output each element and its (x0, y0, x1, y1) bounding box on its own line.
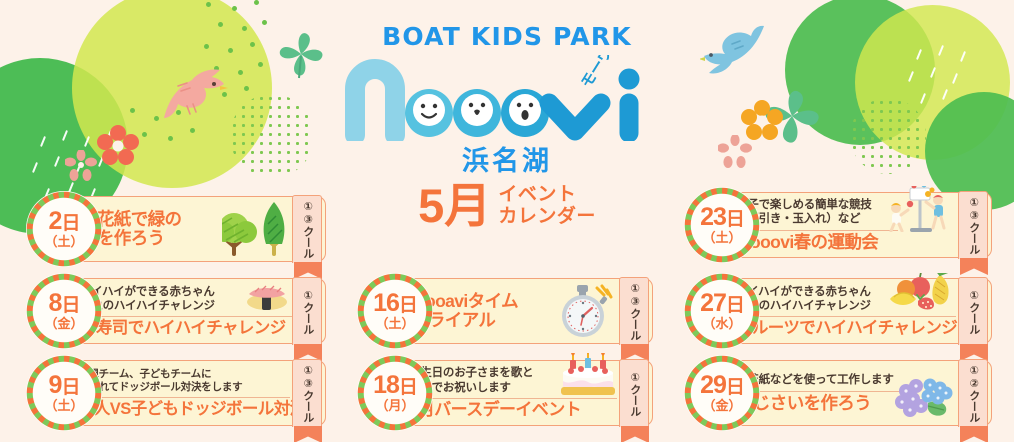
date-number: 27日 (700, 291, 744, 316)
date-number: 29日 (700, 373, 744, 398)
date-weekday: （金） (702, 399, 741, 413)
date-badge: 9日 （土） (26, 355, 102, 431)
event-card-2[interactable]: 2日 （土） お花紙で緑の 木を作ろう ①③クール (26, 196, 326, 262)
divider (736, 316, 956, 317)
course-ribbon-text: ①クール (628, 371, 640, 417)
location-title: 浜名湖 (0, 139, 1014, 178)
date-number: 9日 (49, 373, 80, 398)
event-card-16[interactable]: 16日 （土） Mooaviタイム トライアル ①③クール (357, 278, 653, 344)
event-title: あじさいを作ろう (736, 394, 902, 413)
calendar-subtitle: イベント カレンダー (498, 184, 596, 227)
event-card-27[interactable]: 27日 （水） ハイハイができる赤ちゃん 対象のハイハイチャレンジ フルーツでハ… (684, 278, 992, 344)
course-ribbon: ①③クール (292, 359, 322, 427)
course-ribbon-tail (960, 258, 988, 275)
calendar-subtitle-line2: カレンダー (498, 206, 596, 227)
course-ribbon: ①③クール (619, 277, 649, 345)
date-weekday: （土） (702, 231, 741, 245)
divider (78, 397, 290, 398)
event-title: 大人VS子どもドッジボール対決 (78, 400, 290, 418)
date-badge: 27日 （水） (684, 273, 760, 349)
course-ribbon-text: ①②クール (967, 364, 979, 423)
course-ribbon-tail (621, 426, 649, 442)
event-title: Mooaviタイム トライアル (411, 292, 613, 331)
event-description: 誕生日のお子さまを歌と 遊びでお祝いします (409, 366, 617, 395)
brand-title: BOAT KIDS PARK (0, 22, 1014, 51)
event-title: 5月バースデーイベント (409, 401, 617, 420)
date-weekday: （水） (702, 317, 741, 331)
calendar-subtitle-line1: イベント (498, 184, 596, 205)
course-ribbon: ①クール (292, 277, 322, 345)
logo-ruby-text: モーヴィ (577, 55, 624, 91)
event-card-29[interactable]: 29日 （金） お花紙などを使って工作します あじさいを作ろう (684, 360, 992, 426)
course-ribbon-text: ①クール (967, 289, 979, 335)
month-number: 5月 (418, 182, 491, 229)
course-ribbon: ①③クール (292, 195, 322, 263)
event-description: ハイハイができる赤ちゃん 対象のハイハイチャレンジ (736, 285, 956, 314)
event-description: 母親チーム、子どもチームに 分かれてドッジボール対決をします (78, 368, 290, 394)
date-badge: 8日 （金） (26, 273, 102, 349)
date-badge: 16日 （土） (357, 273, 433, 349)
event-title: Mooovi春の運動会 (736, 233, 898, 252)
course-ribbon: ①クール (958, 277, 988, 345)
course-ribbon-text: ①③クール (301, 200, 313, 259)
course-ribbon-tail (960, 426, 988, 442)
date-number: 8日 (49, 291, 80, 316)
mooovi-logo: モーヴィ (0, 55, 1014, 137)
date-badge: 29日 （金） (684, 355, 760, 431)
event-card-23[interactable]: 23日 （土） 親子で楽しめる簡単な競技 （綱引き・玉入れ）など Mooovi春… (684, 192, 992, 258)
date-weekday: （金） (44, 317, 83, 331)
date-badge: 23日 （土） (684, 187, 760, 263)
event-title: お寿司でハイハイチャレンジ (80, 319, 292, 337)
divider (409, 398, 617, 399)
course-ribbon: ①③クール (958, 191, 988, 259)
date-number: 18日 (373, 373, 417, 398)
course-ribbon-text: ①③クール (628, 282, 640, 341)
date-number: 2日 (49, 209, 80, 234)
event-card-9[interactable]: 9日 （土） 母親チーム、子どもチームに 分かれてドッジボール対決をします 大人… (26, 360, 326, 426)
date-badge: 2日 （土） (26, 191, 102, 267)
date-weekday: （土） (44, 235, 83, 249)
course-ribbon-tail (294, 426, 322, 442)
course-ribbon-text: ①③クール (301, 364, 313, 423)
event-card-8[interactable]: 8日 （金） ハイハイができる赤ちゃん 対象のハイハイチャレンジ お寿司でハイハ… (26, 278, 326, 344)
course-ribbon: ①クール (619, 359, 649, 427)
calendar-poster: BOAT KIDS PARK (0, 0, 1014, 442)
event-title: お花紙で緑の 木を作ろう (80, 210, 286, 249)
date-number: 16日 (373, 291, 417, 316)
course-ribbon: ①②クール (958, 359, 988, 427)
divider (80, 316, 292, 317)
event-card-18[interactable]: 18日 （月） 誕生日のお子さまを歌と 遊びでお祝いします 5月バースデーイベン… (357, 360, 653, 426)
course-ribbon-text: ①③クール (967, 196, 979, 255)
date-weekday: （月） (375, 399, 414, 413)
course-ribbon-text: ①クール (301, 289, 313, 335)
event-description: ハイハイができる赤ちゃん 対象のハイハイチャレンジ (80, 285, 292, 314)
date-weekday: （土） (375, 317, 414, 331)
date-number: 23日 (700, 205, 744, 230)
date-weekday: （土） (44, 399, 83, 413)
date-badge: 18日 （月） (357, 355, 433, 431)
event-title: フルーツでハイハイチャレンジ (736, 319, 956, 337)
event-description: お花紙などを使って工作します (736, 373, 902, 387)
